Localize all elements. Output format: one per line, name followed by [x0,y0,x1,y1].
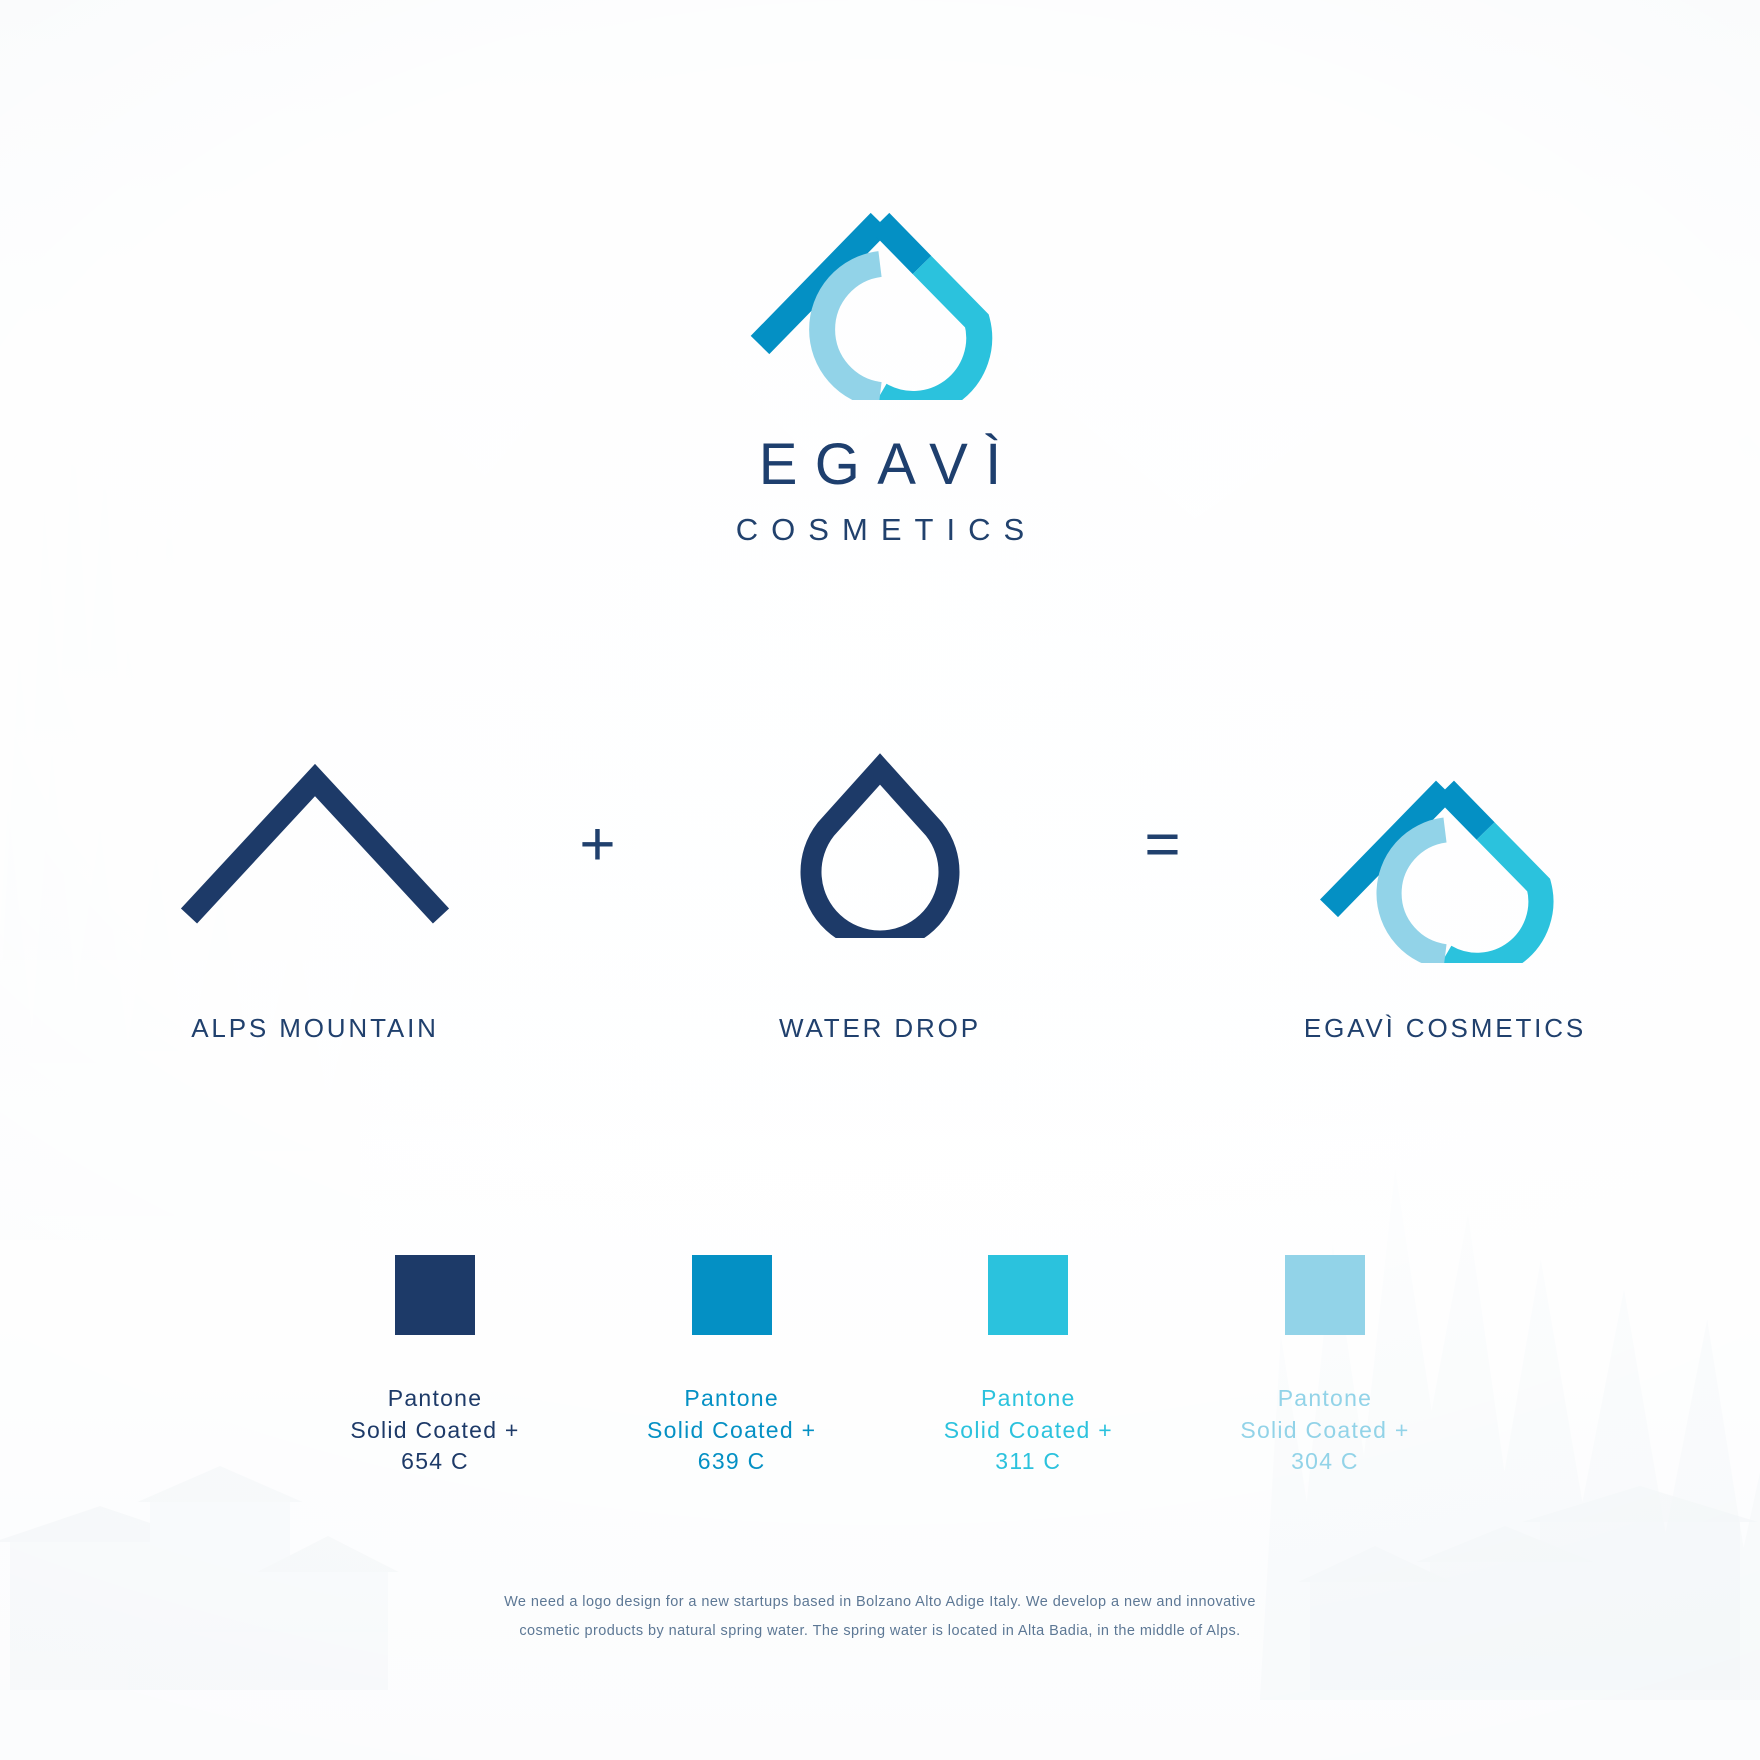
primary-logo-mark-icon [730,160,1030,400]
operator-equals: = [1118,745,1208,945]
palette-swatch-311c: Pantone Solid Coated + 311 C [938,1255,1118,1478]
color-swatch [395,1255,475,1335]
equation-art-water-drop [795,745,965,945]
mountain-chevron-icon [175,760,455,930]
logo-presentation-canvas: EGAVÌ COSMETICS ALPS MOUNTAIN + [0,0,1760,1760]
logo-construction-equation: ALPS MOUNTAIN + WATER DROP = [150,745,1610,1044]
color-swatch [988,1255,1068,1335]
palette-swatch-304c: Pantone Solid Coated + 304 C [1235,1255,1415,1478]
swatch-label: Pantone Solid Coated + 304 C [1240,1383,1409,1478]
color-palette: Pantone Solid Coated + 654 C Pantone Sol… [345,1255,1415,1478]
equation-item-egavi-cosmetics: EGAVÌ COSMETICS [1280,745,1610,1044]
color-swatch [692,1255,772,1335]
palette-swatch-654c: Pantone Solid Coated + 654 C [345,1255,525,1478]
equation-item-alps-mountain: ALPS MOUNTAIN [150,745,480,1044]
equation-label-alps-mountain: ALPS MOUNTAIN [191,1013,439,1044]
swatch-label: Pantone Solid Coated + 654 C [350,1383,519,1478]
brand-wordmark: EGAVÌ [741,436,1018,494]
water-drop-outline-icon [795,753,965,938]
equation-label-water-drop: WATER DROP [779,1013,981,1044]
swatch-label: Pantone Solid Coated + 311 C [944,1383,1113,1478]
equation-art-alps-mountain [175,745,455,945]
swatch-label: Pantone Solid Coated + 639 C [647,1383,816,1478]
equation-label-egavi-cosmetics: EGAVÌ COSMETICS [1304,1013,1586,1044]
brand-subword: COSMETICS [723,514,1038,545]
project-brief-text: We need a logo design for a new startups… [500,1588,1260,1646]
color-swatch [1285,1255,1365,1335]
operator-plus: + [553,745,643,945]
palette-swatch-639c: Pantone Solid Coated + 639 C [642,1255,822,1478]
equation-item-water-drop: WATER DROP [715,745,1045,1044]
combined-logo-mark-icon [1300,728,1590,963]
equation-art-combined-mark [1300,745,1590,945]
primary-logo-lockup: EGAVÌ COSMETICS [0,160,1760,545]
